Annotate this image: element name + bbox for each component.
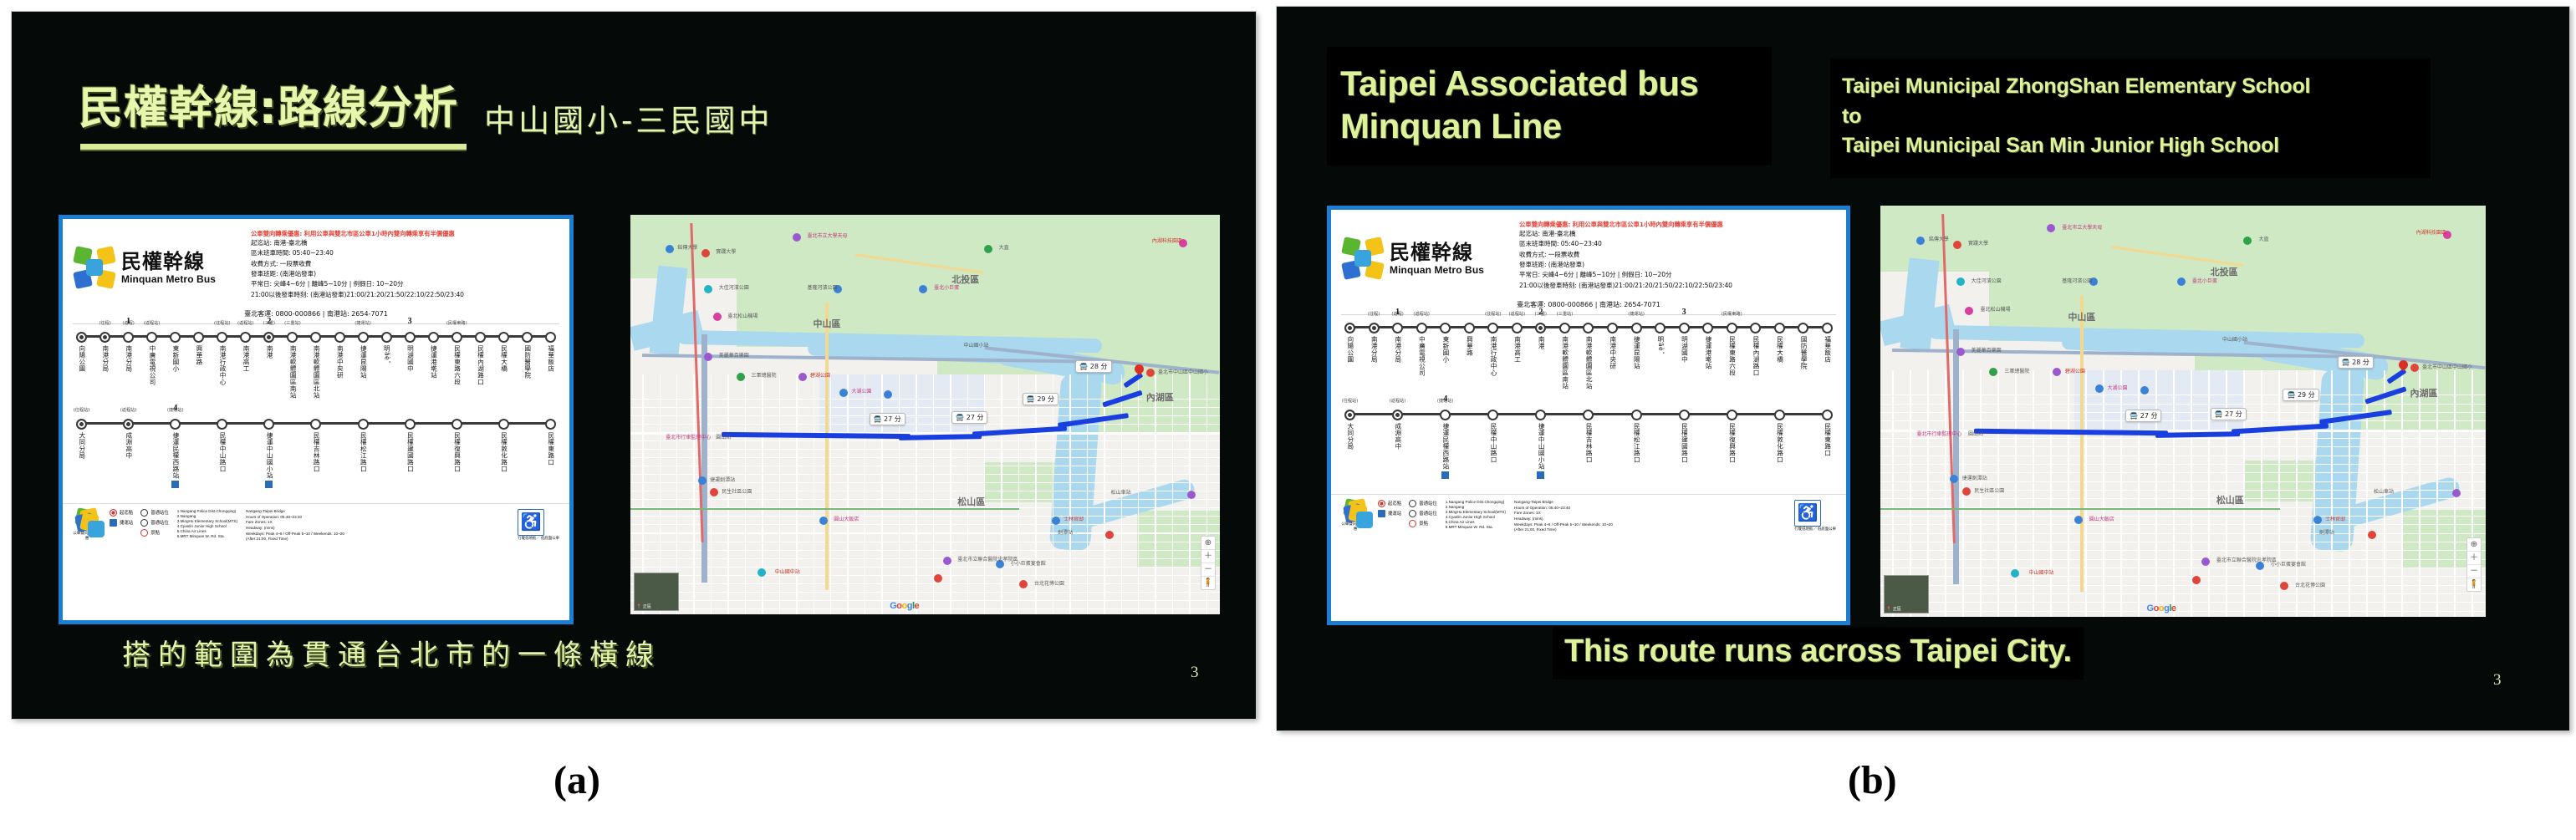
stop-name: 民權東路六段 bbox=[1728, 336, 1736, 376]
map-road-h bbox=[1880, 593, 2486, 594]
map-place-label: 中山國中站 bbox=[775, 568, 800, 575]
map-road-v bbox=[2331, 370, 2332, 617]
stop-dot-icon bbox=[358, 332, 369, 343]
logo-en-text: Minquan Metro Bus bbox=[1390, 264, 1484, 276]
map-road-h bbox=[630, 524, 1220, 525]
route-stop: 東新國小 bbox=[168, 328, 182, 399]
normal-stop-icon bbox=[140, 509, 148, 517]
stop-dot-icon bbox=[1344, 410, 1355, 420]
map-control-button[interactable]: ⊕ bbox=[2467, 538, 2481, 552]
legend-en-routes: 1.Nangang Police Dist.Chongqing) 2.Nanga… bbox=[177, 509, 237, 539]
stop-dot-icon bbox=[545, 419, 556, 430]
route-stop: (民權東路)民權東路六段 bbox=[450, 328, 464, 399]
map-zoom-controls[interactable]: ⊕＋－🧍 bbox=[1201, 536, 1216, 590]
map-control-button[interactable]: 🧍 bbox=[1201, 577, 1215, 589]
map-poi-marker[interactable] bbox=[2095, 384, 2104, 393]
stop-dot-icon bbox=[358, 419, 369, 430]
stop-tag: (返程站) bbox=[1413, 311, 1430, 317]
slide-b-page-number: 3 bbox=[2493, 671, 2502, 690]
map-road-h bbox=[1880, 420, 2486, 421]
stop-dot-icon bbox=[170, 419, 181, 430]
map-road-v bbox=[916, 374, 916, 614]
map-place-label: 碧湖公園 bbox=[2065, 367, 2085, 374]
route-stop: (返程站)成淵高中 bbox=[121, 415, 135, 488]
map-place-label: 基隆河濱公園 bbox=[808, 283, 838, 291]
map-road-h bbox=[630, 583, 1220, 584]
map-road-v bbox=[881, 374, 882, 614]
map-place-label: 台北花博公園 bbox=[1034, 579, 1064, 587]
stop-name: 南港行政中心 bbox=[219, 345, 227, 385]
map-expressway bbox=[1953, 329, 1959, 584]
map-road-v bbox=[2085, 370, 2086, 617]
map-poi-marker[interactable] bbox=[1953, 241, 1961, 249]
route-stop: (往程站)南港行政中心 bbox=[215, 328, 229, 399]
map-poi-marker[interactable] bbox=[1187, 491, 1196, 499]
stop-name: 南港軟體園區南站 bbox=[1561, 336, 1569, 389]
google-logo: Google bbox=[2147, 603, 2176, 613]
route-stop: (返程站)成淵高中 bbox=[1390, 405, 1405, 479]
route-stop: (往程站)南港行政中心 bbox=[1486, 318, 1500, 389]
map-poi-marker[interactable] bbox=[2201, 557, 2210, 566]
map-place-label: 民生社區公園 bbox=[722, 487, 752, 495]
stop-name: 民權大橋 bbox=[1776, 336, 1783, 363]
stop-name: 南港行政中心 bbox=[1490, 336, 1497, 376]
stop-tag: (返程站) bbox=[1509, 311, 1526, 317]
subtitle-line-3: Taipei Municipal San Min Junior High Sch… bbox=[1842, 131, 2419, 161]
map-road-h bbox=[1880, 456, 2486, 456]
stop-dot-icon bbox=[310, 332, 321, 343]
stop-tag: (往程站) bbox=[74, 407, 90, 413]
route-diagram: 向陽公園(往程)南港分局1(返程)南港分局(返程站)中廣電視公司東新國小興華路(… bbox=[63, 324, 569, 501]
minquan-logo: 民權幹線 Minquan Metro Bus bbox=[74, 229, 246, 300]
map-road-h bbox=[630, 516, 1220, 517]
normal-stop-icon bbox=[1409, 500, 1416, 507]
stop-name: 國防醫學院 bbox=[1800, 336, 1808, 369]
stop-dot-icon bbox=[1679, 410, 1690, 420]
map-road-v bbox=[2349, 370, 2349, 617]
legend-en-routes: 1.Nangang Police Dist.Chongqing) 2.Nanga… bbox=[1446, 500, 1506, 530]
stop-name: 民權內湖路口 bbox=[477, 345, 484, 385]
stop-dot-icon bbox=[1392, 323, 1403, 333]
map-place-label: 臺北市行車監理中心 bbox=[666, 433, 711, 440]
map-road-v bbox=[1069, 374, 1070, 614]
stop-name: 民權建國路口 bbox=[1681, 423, 1688, 463]
map-road-h bbox=[630, 558, 1220, 559]
stop-dot-icon bbox=[217, 419, 227, 430]
stop-dot-icon bbox=[1535, 410, 1546, 420]
stop-dot-icon bbox=[1679, 323, 1690, 333]
stop-dot-icon bbox=[1440, 323, 1451, 333]
map-road-h bbox=[1880, 585, 2486, 586]
wheelchair-caption: 行駛低地板／ 低底盤公車 bbox=[518, 537, 559, 542]
map-control-button[interactable]: － bbox=[2467, 565, 2481, 578]
info-row: 收費方式: 一段票收費 bbox=[251, 259, 561, 269]
stop-dot-icon bbox=[1822, 323, 1833, 333]
route-stop: 南港中央研 bbox=[333, 328, 347, 399]
map-poi-marker[interactable] bbox=[819, 517, 828, 525]
map-poi-marker[interactable] bbox=[2410, 364, 2419, 372]
stop-dot-icon bbox=[545, 332, 556, 343]
stop-name: 南港高工 bbox=[1513, 336, 1521, 363]
map-district-label: 內湖區 bbox=[2410, 386, 2438, 400]
street-view-thumbnail[interactable]: 📍 正區 bbox=[1884, 575, 1929, 613]
map-poi-marker[interactable] bbox=[1146, 369, 1155, 377]
route-stop: 民權中山路口 bbox=[215, 415, 229, 488]
map-place-label: 捷運劍潭站 bbox=[1962, 474, 1987, 481]
stop-name: 民權內湖路口 bbox=[1752, 336, 1760, 376]
info-row: 起迄站: 南港-臺北橋 bbox=[1519, 229, 1838, 239]
route-map[interactable]: 中山區松山區內湖區北投區銘傳大學實踐大學臺北市立大學天母大直內湖科技園區大佳河濱… bbox=[1880, 206, 2486, 617]
map-road-v bbox=[2261, 370, 2262, 617]
stop-dot-icon bbox=[146, 332, 157, 343]
map-road-h bbox=[1880, 446, 2486, 447]
wheelchair-caption: 行駛低地板／ 低底盤公車 bbox=[1794, 527, 1836, 532]
bus-info-block: 公車雙向轉乘優惠: 利用公車與雙北市區公車1小時內雙向轉乘享有半價優惠 起迄站:… bbox=[1514, 220, 1838, 291]
slide-a-page-number: 3 bbox=[1191, 664, 1199, 682]
map-poi-marker[interactable] bbox=[757, 568, 766, 577]
stop-name: 民權東路口 bbox=[1824, 423, 1831, 456]
map-poi-marker[interactable] bbox=[704, 285, 712, 293]
route-map[interactable]: 中山區松山區內湖區北投區銘傳大學實踐大學臺北市立大學天母大直內湖科技園區大佳河濱… bbox=[630, 215, 1220, 614]
map-poi-marker[interactable] bbox=[2368, 531, 2376, 539]
map-place-label: 碧湖公園 bbox=[810, 371, 830, 379]
stop-tag: (返程) bbox=[1391, 311, 1403, 317]
legend-key: 景點 bbox=[140, 529, 169, 537]
map-road-v bbox=[1018, 374, 1019, 614]
stop-tag: (民權東路) bbox=[446, 320, 467, 326]
attraction-icon bbox=[1409, 520, 1416, 527]
bus-card-header: 民權幹線 Minquan Metro Bus 公車雙向轉乘優惠: 利用公車與雙北… bbox=[63, 219, 569, 303]
stop-dot-icon bbox=[1440, 410, 1451, 420]
route-stop: 民權吉林路口 bbox=[1581, 405, 1595, 479]
travel-time-badge: 🚍 29 分 bbox=[2283, 389, 2318, 401]
stop-name: 南港中央研 bbox=[336, 345, 344, 379]
map-place-label: 實踐大學 bbox=[716, 247, 736, 255]
stop-dot-icon bbox=[405, 419, 416, 430]
stop-dot-icon bbox=[498, 332, 509, 343]
info-row: 區末班車時間: 05:40~23:40 bbox=[251, 248, 561, 258]
stop-dot-icon bbox=[263, 332, 274, 343]
route-stop: 民權東路口 bbox=[1820, 405, 1834, 479]
route-stop: (捷運站)捷運昆陽站 bbox=[356, 328, 370, 399]
route-stop: (返程站)中廣電視公司 bbox=[1415, 318, 1429, 389]
map-place-label: 圓山大飯店 bbox=[2089, 515, 2114, 522]
map-road-h bbox=[1880, 438, 2486, 439]
map-road-v bbox=[2366, 370, 2367, 617]
map-road-v bbox=[899, 374, 900, 614]
map-road-h bbox=[630, 491, 1220, 491]
map-place-label: 大直 bbox=[999, 243, 1009, 251]
stop-tag: (往程站) bbox=[214, 320, 231, 326]
map-road-h bbox=[630, 567, 1220, 568]
stop-name: 捷運中山國小站 bbox=[266, 432, 273, 479]
map-control-button[interactable]: － bbox=[1201, 563, 1215, 577]
route-stop: 向陽公園 bbox=[1343, 318, 1357, 389]
legend-logo: 公車雙向 轉乘優惠 bbox=[73, 509, 101, 541]
map-place-label: 小小巨蛋宴會館 bbox=[2271, 560, 2306, 568]
stop-name: 南港分局 bbox=[1394, 336, 1401, 363]
transfer-notice: 公車雙向轉乘優惠: 利用公車與雙北市區公車1小時內雙向轉乘享有半價優惠 bbox=[1519, 220, 1838, 229]
stop-name: 捷運港墘站 bbox=[430, 345, 437, 379]
wheelchair-icon: ♿ bbox=[1794, 500, 1821, 527]
stop-name: 民權東路六段 bbox=[453, 345, 461, 385]
map-place-label: 劍潭站 bbox=[1058, 528, 1073, 536]
map-place-label: 劍潭站 bbox=[2319, 528, 2334, 536]
map-control-button[interactable]: ⊕ bbox=[1201, 537, 1215, 550]
stop-dot-icon bbox=[475, 332, 486, 343]
stop-dot-icon bbox=[1487, 323, 1498, 333]
map-place-label: 美麗華百樂園 bbox=[1972, 346, 2002, 354]
info-row: 21:00以後發車時刻: (南港站發車)21:00/21:20/21:50/22… bbox=[251, 290, 561, 300]
mrt-badge-icon bbox=[1537, 471, 1544, 479]
map-road-h bbox=[630, 457, 1220, 458]
stop-dot-icon bbox=[123, 419, 134, 430]
route-stop: 南港中央研 bbox=[1605, 318, 1620, 389]
map-poi-marker[interactable] bbox=[737, 373, 745, 381]
route-stop: (往程站)大同分局 bbox=[1343, 405, 1357, 479]
info-row: 平常日: 尖峰4~6分 | 離峰5~10分 | 例假日: 10~20分 bbox=[251, 279, 561, 289]
stop-dot-icon bbox=[76, 419, 87, 430]
map-road-v bbox=[950, 374, 951, 614]
contact-phone: 臺北客運: 0800-000866 | 南港站: 2654-7071 bbox=[1331, 300, 1846, 309]
map-place-label: 圓山站 bbox=[1968, 430, 1983, 437]
street-view-thumbnail[interactable]: 📍 正區 bbox=[634, 573, 679, 611]
map-place-label: 大直 bbox=[2259, 235, 2269, 242]
stop-tag: (往程站) bbox=[1485, 311, 1502, 317]
legend-key: 普通站位 bbox=[140, 519, 169, 527]
map-poi-marker[interactable] bbox=[1052, 517, 1060, 525]
stop-name: 向陽公園 bbox=[1346, 336, 1354, 363]
map-place-label: 三軍總醫院 bbox=[752, 371, 777, 379]
map-road-h bbox=[1880, 602, 2486, 603]
route-stop: (返程站)南港高工 bbox=[1510, 318, 1524, 389]
stop-dot-icon bbox=[1583, 410, 1594, 420]
stop-dot-icon bbox=[123, 332, 134, 343]
route-stop: (民權東路)民權東路六段 bbox=[1725, 318, 1739, 389]
info-row: 平常日: 尖峰4~6分 | 離峰5~10分 | 例假日: 10~20分 bbox=[1519, 270, 1838, 280]
map-road-v bbox=[847, 374, 848, 614]
map-control-button[interactable]: ＋ bbox=[1201, 550, 1215, 563]
stop-name: 民權吉林路口 bbox=[1585, 423, 1593, 463]
route-stop: 捷運港墘站 bbox=[1701, 318, 1715, 389]
map-poi-marker[interactable] bbox=[984, 245, 992, 253]
travel-time-badge: 🚍 28 分 bbox=[2338, 356, 2374, 369]
map-road-h bbox=[630, 499, 1220, 500]
route-stop: 民權松江路口 bbox=[1630, 405, 1644, 479]
map-poi-marker[interactable] bbox=[798, 373, 807, 381]
map-place-label: 臺北市立聯合醫院忠孝院區 bbox=[2216, 556, 2277, 563]
stop-tag: (往程站) bbox=[1342, 398, 1359, 404]
stop-name: 民權復興路口 bbox=[453, 432, 461, 472]
stop-name: 南港分局 bbox=[1370, 336, 1378, 363]
stop-name: 南港分局 bbox=[101, 345, 109, 372]
route-stop: (返程站)南港高工 bbox=[238, 328, 252, 399]
route-stop: 民權大橋 bbox=[497, 328, 511, 399]
route-stop: 民權中山路口 bbox=[1486, 405, 1500, 479]
title-line-2: Minquan Line bbox=[1340, 104, 1758, 147]
map-road-h bbox=[1880, 568, 2486, 568]
route-stop: 捷運港墘站 bbox=[426, 328, 441, 399]
route-stop: 國防醫學院 bbox=[1796, 318, 1810, 389]
route-stop: 民權東路口 bbox=[543, 415, 558, 488]
subtitle-line-2: to bbox=[1842, 102, 2419, 132]
map-poi-marker[interactable] bbox=[701, 249, 710, 257]
map-poi-marker[interactable] bbox=[2192, 576, 2201, 584]
stop-dot-icon bbox=[1774, 410, 1785, 420]
stop-dot-icon bbox=[1559, 323, 1570, 333]
stop-name: 南港軟體園區北站 bbox=[1585, 336, 1593, 389]
bus-route-card: 民權幹線 Minquan Metro Bus 公車雙向轉乘優惠: 利用公車與雙北… bbox=[1327, 206, 1850, 625]
minquan-logo: 民權幹線 Minquan Metro Bus bbox=[1343, 220, 1514, 291]
map-place-label: 圓山站 bbox=[716, 433, 731, 440]
info-row: 收費方式: 一段票收費 bbox=[1519, 250, 1838, 260]
info-row: 21:00以後發車時刻: (南港站發車)21:00/21:20/21:50/22… bbox=[1519, 281, 1838, 291]
bus-card-header: 民權幹線 Minquan Metro Bus 公車雙向轉乘優惠: 利用公車與雙北… bbox=[1331, 210, 1846, 294]
map-road-h bbox=[1880, 412, 2486, 413]
terminus-icon bbox=[1378, 500, 1385, 507]
map-zoom-controls[interactable]: ⊕＋－🧍 bbox=[2466, 537, 2482, 592]
map-place-label: 臺北松山機場 bbox=[1980, 305, 2010, 313]
route-stop: (三重站)南港軟體園區南站 bbox=[285, 328, 299, 399]
stop-name: 南港中央研 bbox=[1609, 336, 1616, 369]
route-stop: 國防醫學院 bbox=[520, 328, 534, 399]
route-stop: 明ãèˆ bbox=[380, 328, 394, 399]
map-place-label: 圓山大飯店 bbox=[834, 515, 859, 522]
map-place-label: 台北花博公園 bbox=[2295, 581, 2325, 588]
mrt-icon bbox=[110, 519, 117, 527]
transfer-notice: 公車雙向轉乘優惠: 利用公車與雙北市區公車1小時內雙向轉乘享有半價優惠 bbox=[251, 229, 561, 238]
map-road-v bbox=[2208, 370, 2209, 617]
stop-tag: (往程) bbox=[1368, 311, 1380, 317]
map-road-v bbox=[2313, 370, 2314, 617]
mrt-icon bbox=[1378, 510, 1385, 517]
map-poi-marker[interactable] bbox=[1956, 277, 1965, 286]
wheelchair-icon: ♿ bbox=[518, 509, 544, 536]
map-poi-marker[interactable] bbox=[1965, 307, 1973, 315]
route-stop: 1(返程)南港分局 bbox=[121, 328, 135, 399]
map-road-h bbox=[1880, 550, 2486, 551]
stop-name: 民權敦化路口 bbox=[1776, 423, 1783, 463]
stop-dot-icon bbox=[428, 332, 439, 343]
map-poi-marker[interactable] bbox=[1962, 487, 1971, 496]
stop-name: 東新國小 bbox=[1441, 336, 1449, 363]
route-row-1: 向陽公園(往程)南港分局1(返程)南港分局(返程站)中廣電視公司東新國小興華路(… bbox=[1343, 318, 1834, 405]
map-poi-marker[interactable] bbox=[943, 557, 951, 565]
legend-key: 普通站位 bbox=[1409, 500, 1437, 507]
info-row: 發車班距: (南港站發車) bbox=[251, 269, 561, 279]
stop-name: 明湖國中 bbox=[1681, 336, 1688, 363]
stop-tag: (返程) bbox=[122, 320, 134, 326]
map-place-label: 美麗華百樂園 bbox=[719, 351, 749, 359]
map-poi-marker[interactable] bbox=[704, 353, 712, 361]
map-road-v bbox=[2068, 370, 2068, 617]
route-stop: 興華路 bbox=[191, 328, 206, 399]
map-place-label: 大湖公園 bbox=[2108, 384, 2128, 391]
map-road-v bbox=[2138, 370, 2139, 617]
stop-dot-icon bbox=[405, 332, 416, 343]
stop-dot-icon bbox=[1702, 323, 1713, 333]
stop-name: 捷運昆陽站 bbox=[1633, 336, 1640, 369]
map-road-v bbox=[2155, 370, 2156, 617]
stop-dot-icon bbox=[1727, 323, 1737, 333]
map-road-v bbox=[2173, 370, 2174, 617]
map-poi-marker[interactable] bbox=[2280, 582, 2288, 590]
stop-tag: (民權東路) bbox=[1722, 311, 1742, 317]
map-place-label: 臺北市中山區中山國小 bbox=[1158, 368, 1208, 375]
stop-name: 明ãèˆ bbox=[1656, 336, 1664, 354]
route-stop: 民權敦化路口 bbox=[497, 415, 511, 488]
map-place-label: 松山車站 bbox=[1111, 488, 1131, 496]
route-stop: 明ãèˆ bbox=[1653, 318, 1667, 389]
title-underline bbox=[80, 144, 467, 150]
figure-label-a: (a) bbox=[553, 757, 600, 803]
map-poi-marker[interactable] bbox=[1105, 531, 1114, 539]
map-road-v bbox=[2401, 370, 2402, 617]
stop-dot-icon bbox=[522, 332, 533, 343]
map-district-label: 松山區 bbox=[957, 495, 985, 508]
map-place-label: 民生社區公園 bbox=[1974, 486, 2004, 494]
route-stop: 4(捷運站)捷運民權西路站 bbox=[168, 415, 182, 488]
stop-name: 向陽公園 bbox=[78, 345, 85, 372]
stop-name: 興華路 bbox=[1466, 336, 1473, 356]
map-poi-marker[interactable] bbox=[793, 233, 801, 242]
map-road-v bbox=[2103, 370, 2104, 617]
map-place-label: 銘傳大學 bbox=[677, 243, 697, 251]
route-stop: 4(捷運站)捷運民權西路站 bbox=[1438, 405, 1452, 479]
stop-name: 東新國小 bbox=[171, 345, 179, 372]
map-road-h bbox=[630, 399, 1220, 400]
legend-key: 捷運站 bbox=[1378, 510, 1401, 517]
route-stop: 南港軟體園區北站 bbox=[1581, 318, 1595, 389]
map-road-v bbox=[2436, 370, 2437, 617]
map-road-h bbox=[630, 542, 1220, 542]
route-stop: 南港軟體園區北站 bbox=[309, 328, 323, 399]
stop-name: 明ãèˆ bbox=[383, 345, 390, 364]
route-stop: 民權復興路口 bbox=[450, 415, 464, 488]
stop-tag: (捷運站) bbox=[355, 320, 371, 326]
map-control-button[interactable]: 🧍 bbox=[2467, 578, 2481, 591]
map-place-label: 中山國中站 bbox=[2028, 568, 2053, 576]
map-district-label: 中山區 bbox=[2068, 310, 2095, 323]
stop-name: 民權中山路口 bbox=[219, 432, 227, 472]
stop-name: 南港軟體園區北站 bbox=[313, 345, 320, 399]
map-place-label: 基隆河濱公園 bbox=[2062, 277, 2092, 284]
stop-dot-icon bbox=[1631, 410, 1642, 420]
normal-stop-icon-2 bbox=[140, 519, 148, 527]
map-control-button[interactable]: ＋ bbox=[2467, 552, 2481, 565]
map-poi-marker[interactable] bbox=[2177, 277, 2186, 286]
logo-cn-text: 民權幹線 bbox=[1390, 242, 1484, 263]
stop-name: 捷運民權西路站 bbox=[171, 432, 179, 479]
map-road-h bbox=[1880, 490, 2486, 491]
stop-dot-icon bbox=[240, 332, 251, 343]
route-stop: 福華飯店 bbox=[543, 328, 558, 399]
route-stop: (往程)南港分局 bbox=[1367, 318, 1381, 389]
legend-key: 起迄點 bbox=[1378, 500, 1401, 507]
map-poi-marker[interactable] bbox=[1956, 348, 1965, 356]
stop-name: 興華路 bbox=[195, 345, 202, 365]
stop-dot-icon bbox=[1631, 323, 1642, 333]
map-road-v bbox=[1001, 374, 1002, 614]
map-place-label: 士林官邸 bbox=[2325, 515, 2345, 522]
accessibility-badge: ♿ 行駛低地板／ 低底盤公車 bbox=[1794, 500, 1836, 532]
map-road-h bbox=[1880, 464, 2486, 465]
map-poi-marker[interactable] bbox=[713, 313, 722, 321]
logo-en-text: Minquan Metro Bus bbox=[121, 273, 216, 285]
legend: 公車雙向 轉乘優惠 起迄點 捷運站 普通站位 普通站位 景點 1.Nangang… bbox=[63, 503, 569, 546]
slide-a-caption: 搭的範圍為貫通台北市的一條橫線 bbox=[122, 632, 661, 673]
map-place-label: 內湖科技園區 bbox=[1152, 237, 1182, 244]
